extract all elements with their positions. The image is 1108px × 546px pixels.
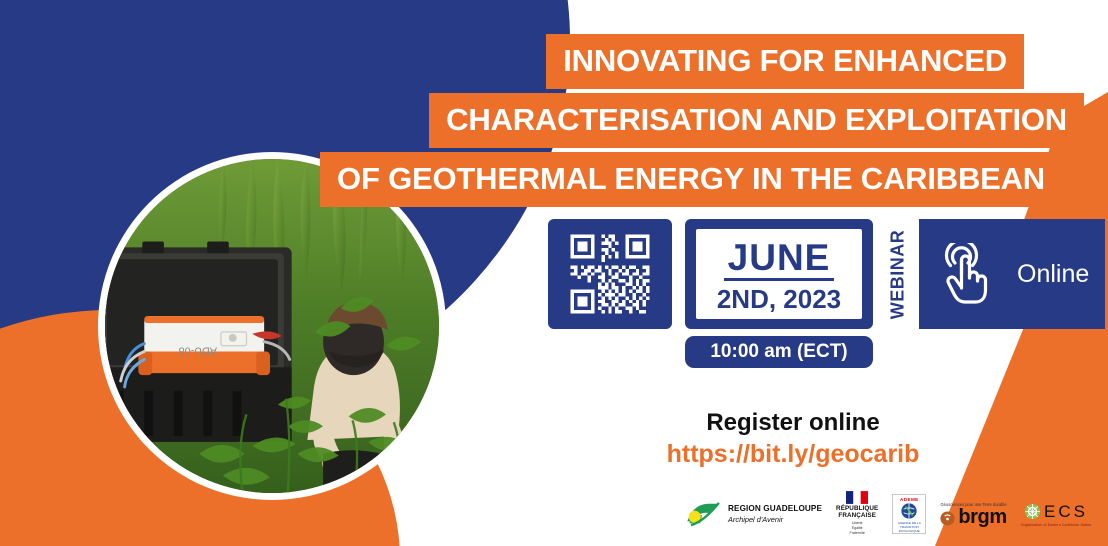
rf-line-2: FRANÇAISE [838,513,876,519]
logo-brgm: Géosciences pour une Terre durable brgm [940,502,1006,526]
hero-photo-image: ADU-08 [105,159,439,493]
ecs-leaf-icon [1024,503,1041,520]
headline-line-1: INNOVATING FOR ENHANCED [546,34,1024,89]
headline-group: INNOVATING FOR ENHANCED CHARACTERISATION… [0,34,1108,207]
online-mode-panel: Online [919,219,1105,329]
headline-line-2: CHARACTERISATION AND EXPLOITATION [429,93,1084,148]
event-date-block: JUNE 2ND, 2023 10:00 am (ECT) [685,219,873,329]
register-heading: Register online [548,408,1038,438]
headline-line-3: OF GEOTHERMAL ENERGY IN THE CARIBBEAN [320,152,1062,207]
webinar-label-text: WEBINAR [888,229,909,319]
partner-logo-bar: REGION GUADELOUPE Archipel d'Avenir RÉPU… [685,490,1091,538]
logo-region-guadeloupe: REGION GUADELOUPE Archipel d'Avenir [685,501,822,527]
french-flag-icon [846,491,868,504]
field-research-illustration: ADU-08 [105,159,439,493]
event-day: 2ND, 2023 [717,286,841,312]
webinar-vertical-label: WEBINAR [883,219,913,329]
rf-motto: Liberté Égalité Fraternité [850,521,865,537]
click-hand-icon [941,243,995,305]
logo-ecs: ECS Organisation of Eastern Caribbean St… [1021,502,1092,527]
brgm-globe-icon [940,511,955,526]
qr-code-icon[interactable] [567,231,653,317]
region-guadeloupe-text: REGION GUADELOUPE Archipel d'Avenir [728,505,822,524]
qr-code-panel[interactable] [548,219,672,329]
date-inner-card: JUNE 2ND, 2023 [696,229,862,319]
brgm-wordmark-row: brgm [940,509,1006,526]
ecs-wordmark-row: ECS [1024,502,1088,522]
logo-ademe: ADEME AGENCE DE LA TRANSITION ÉCOLOGIQUE [892,494,926,534]
ecs-tagline: Organisation of Eastern Caribbean States [1021,523,1092,527]
ecs-name: ECS [1044,502,1088,522]
ademe-globe-icon [899,502,919,520]
online-label: Online [1017,260,1089,289]
register-url[interactable]: https://bit.ly/geocarib [548,438,1038,471]
region-guadeloupe-tagline: Archipel d'Avenir [728,516,822,523]
brgm-name: brgm [958,509,1006,526]
ademe-subtitle: AGENCE DE LA TRANSITION ÉCOLOGIQUE [893,521,925,533]
event-time-badge: 10:00 am (ECT) [685,336,873,368]
registration-block: Register online https://bit.ly/geocarib [548,408,1038,471]
poster-canvas: ADU-08 [0,0,1108,546]
event-info-row: JUNE 2ND, 2023 10:00 am (ECT) WEBINAR [548,219,1105,329]
region-guadeloupe-mark [685,501,723,527]
logo-republique-francaise: RÉPUBLIQUE FRANÇAISE Liberté Égalité Fra… [836,491,878,536]
region-guadeloupe-name: REGION GUADELOUPE [728,505,822,513]
date-panel: JUNE 2ND, 2023 [685,219,873,329]
svg-text:ADU-08: ADU-08 [179,345,217,357]
event-month: JUNE [724,239,835,281]
